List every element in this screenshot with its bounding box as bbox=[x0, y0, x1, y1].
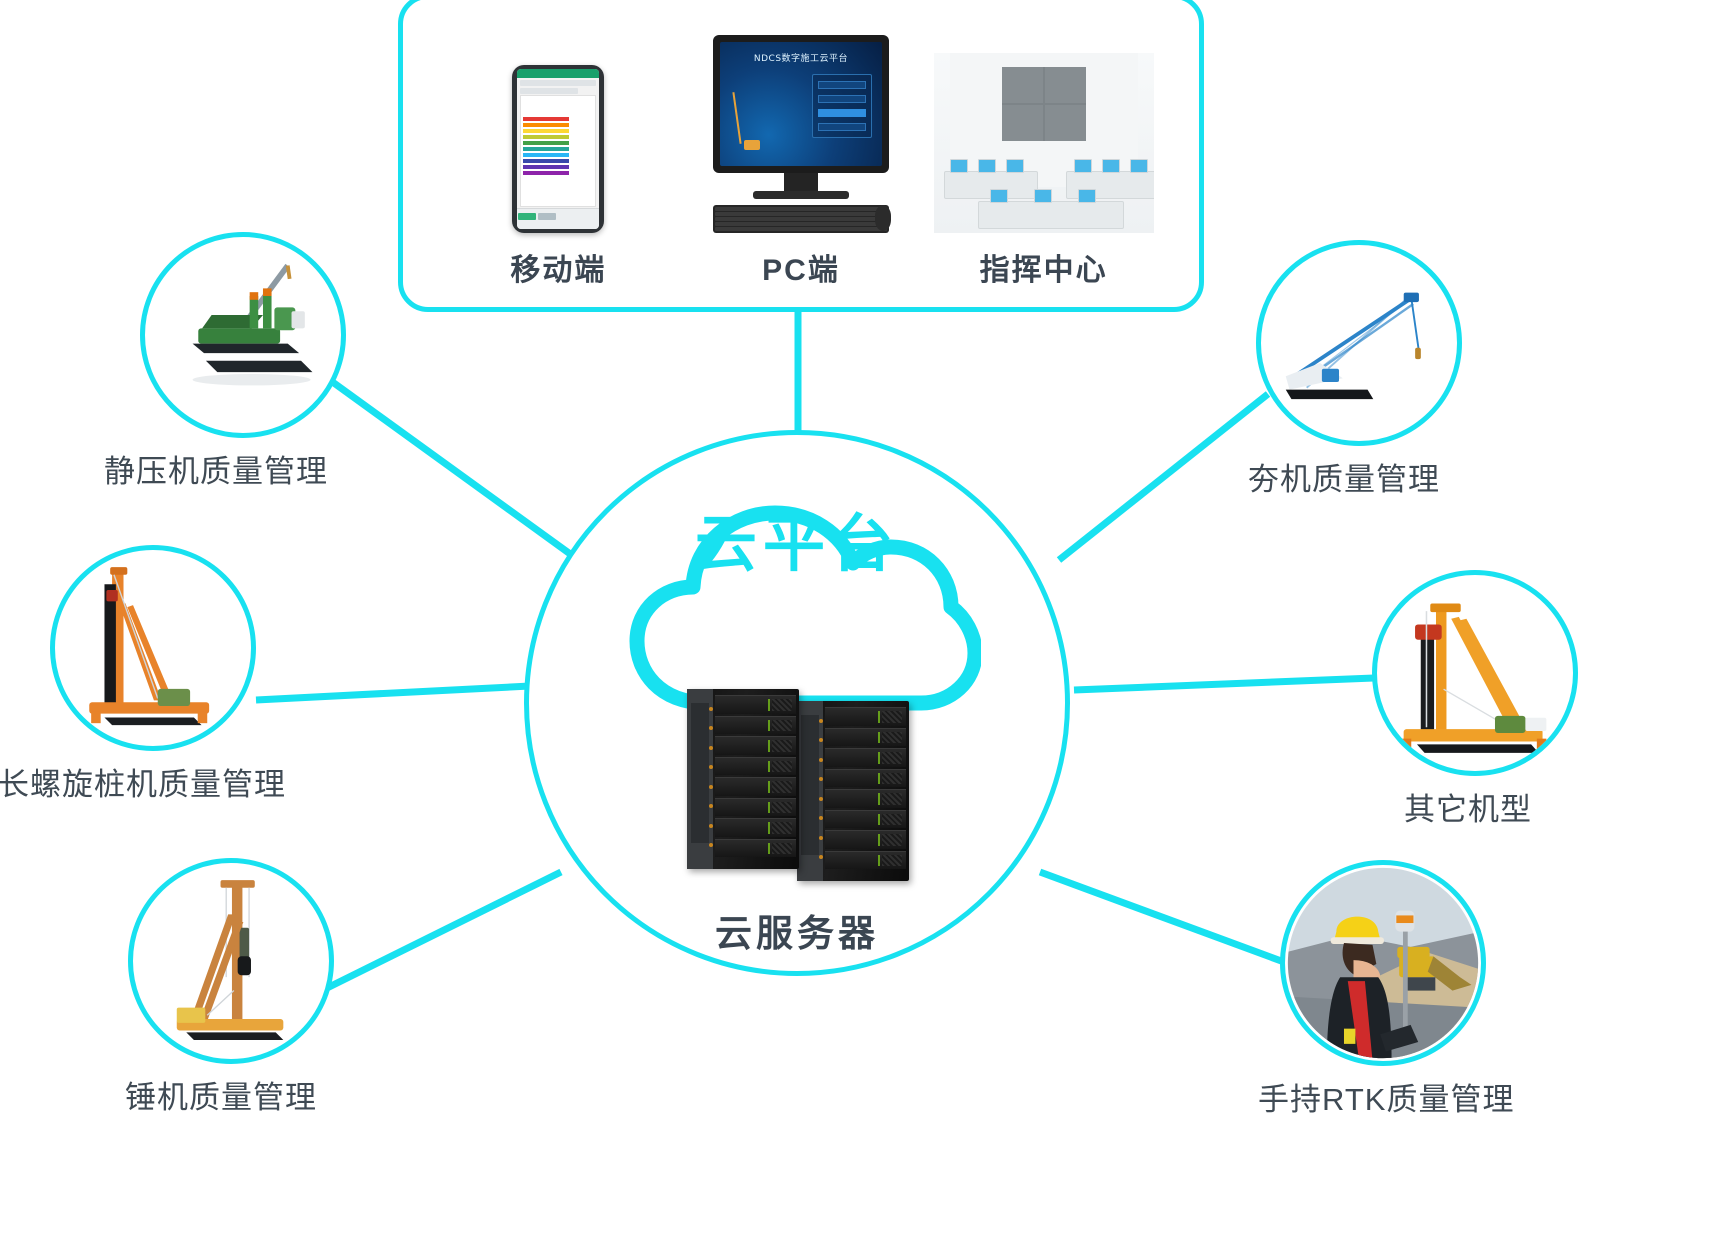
node-rammer[interactable]: 夯机质量管理 bbox=[1256, 240, 1462, 446]
crawler-crane-rammer-photo bbox=[1261, 245, 1457, 441]
node-long-auger[interactable]: 长螺旋桩机质量管理 bbox=[50, 545, 256, 751]
terminal-label-pc: PC端 bbox=[762, 245, 840, 289]
node-hammer[interactable]: 锤机质量管理 bbox=[128, 858, 334, 1064]
node-label-rammer: 夯机质量管理 bbox=[1248, 454, 1440, 499]
terminal-item-command-center[interactable]: 指挥中心 bbox=[934, 27, 1154, 289]
node-label-handheld-rtk: 手持RTK质量管理 bbox=[1258, 1074, 1514, 1119]
node-label-static-press: 静压机质量管理 bbox=[104, 446, 328, 491]
node-static-press[interactable]: 静压机质量管理 bbox=[140, 232, 346, 438]
cloud-platform-title: 云平台 bbox=[529, 493, 1065, 583]
node-handheld-rtk[interactable]: 手持RTK质量管理 bbox=[1280, 860, 1486, 1066]
node-label-other-models: 其它机型 bbox=[1404, 784, 1532, 829]
terminal-label-command-center: 指挥中心 bbox=[980, 245, 1108, 289]
link-hammer bbox=[323, 872, 561, 990]
worker-with-rtk-photo bbox=[1285, 865, 1481, 1061]
long-auger-pile-rig-photo bbox=[55, 550, 251, 746]
static-pile-press-machine-photo bbox=[145, 237, 341, 433]
server-label: 云服务器 bbox=[529, 903, 1065, 957]
link-long-auger bbox=[256, 686, 530, 700]
link-rammer bbox=[1059, 394, 1268, 560]
desktop-monitor-icon: NDCS数字施工云平台 bbox=[691, 27, 911, 233]
terminal-item-mobile[interactable]: 移动端 bbox=[448, 27, 668, 289]
node-label-hammer: 锤机质量管理 bbox=[125, 1072, 317, 1117]
server-racks-icon bbox=[679, 683, 921, 893]
terminals-panel: 移动端 NDCS数字施工云平台 bbox=[398, 0, 1204, 312]
terminal-label-mobile: 移动端 bbox=[510, 245, 606, 289]
link-handheld-rtk bbox=[1040, 872, 1284, 962]
pc-screen-banner: NDCS数字施工云平台 bbox=[720, 51, 882, 64]
cloud-platform-circle: 云平台 云服务器 bbox=[524, 430, 1070, 976]
link-other-models bbox=[1074, 678, 1374, 690]
mobile-phone-icon bbox=[448, 27, 668, 233]
rotary-drilling-rig-photo bbox=[1377, 575, 1573, 771]
terminal-item-pc[interactable]: NDCS数字施工云平台 bbox=[691, 27, 911, 289]
mouse-icon bbox=[875, 205, 891, 231]
command-center-icon bbox=[934, 27, 1154, 233]
hammer-pile-driver-photo bbox=[133, 863, 329, 1059]
node-other-models[interactable]: 其它机型 bbox=[1372, 570, 1578, 776]
node-label-long-auger: 长螺旋桩机质量管理 bbox=[0, 759, 286, 804]
diagram-canvas: 移动端 NDCS数字施工云平台 bbox=[0, 0, 1728, 1242]
